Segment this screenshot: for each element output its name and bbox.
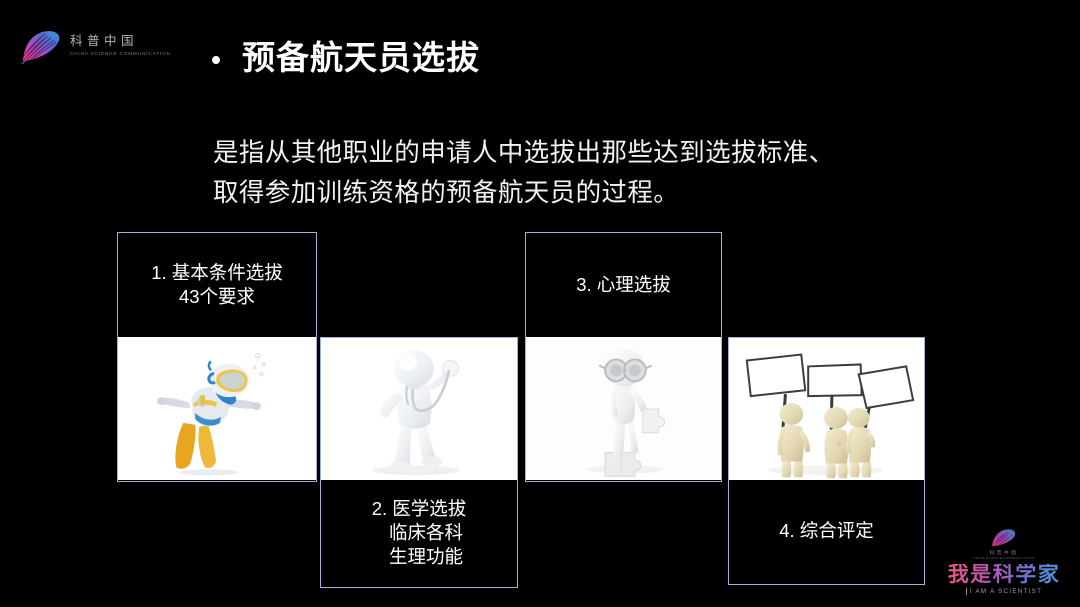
- card-3-caption: 3. 心理选拔: [526, 233, 721, 337]
- card-4-caption-line-1: 4. 综合评定: [779, 519, 874, 543]
- brand-logo: 科普中国 CHINA SCIENCE COMMUNICATION: [18, 24, 188, 70]
- doctor-stethoscope-figure-illustration: [321, 338, 517, 480]
- card-2-caption-line-1: 2. 医学选拔: [372, 497, 467, 521]
- glasses-puzzle-figure-illustration: [526, 337, 721, 480]
- watermark-small-english: CHINA SCIENCE COMMUNICATION: [973, 556, 1035, 560]
- selection-step-card-1[interactable]: 1. 基本条件选拔 43个要求: [117, 232, 317, 482]
- card-2-caption-line-3: 生理功能: [375, 545, 463, 569]
- three-figures-holding-blank-signs-illustration: [729, 338, 924, 480]
- card-2-caption-line-2: 临床各科: [375, 521, 463, 545]
- card-1-caption: 1. 基本条件选拔 43个要求: [118, 233, 316, 337]
- i-am-a-scientist-watermark: 科普中国 CHINA SCIENCE COMMUNICATION 我是科学家 I…: [950, 517, 1058, 595]
- card-4-caption: 4. 综合评定: [729, 480, 924, 583]
- slide-title-row: 预备航天员选拔: [212, 40, 480, 76]
- watermark-english-title: I AM A SCIENTIST: [970, 588, 1042, 595]
- brand-chinese-name: 科普中国: [70, 35, 171, 49]
- selection-step-card-3[interactable]: 3. 心理选拔: [525, 232, 722, 482]
- selection-step-card-4[interactable]: 4. 综合评定: [728, 337, 925, 585]
- body-paragraph: 是指从其他职业的申请人中选拔出那些达到选拔标准、 取得参加训练资格的预备航天员的…: [213, 134, 933, 213]
- i-am-a-scientist-fan-logo-icon: [989, 527, 1019, 549]
- presentation-slide: 科普中国 CHINA SCIENCE COMMUNICATION 预备航天员选拔…: [0, 0, 1080, 607]
- selection-step-card-2[interactable]: 2. 医学选拔 临床各科 生理功能: [320, 337, 518, 588]
- brand-english-name: CHINA SCIENCE COMMUNICATION: [70, 51, 171, 57]
- body-line-2: 取得参加训练资格的预备航天员的过程。: [213, 174, 933, 214]
- page-title: 预备航天员选拔: [242, 40, 480, 76]
- watermark-chinese-title: 我是科学家: [948, 564, 1061, 586]
- bullet-icon: [212, 56, 220, 64]
- card-2-caption: 2. 医学选拔 临床各科 生理功能: [321, 480, 517, 586]
- card-1-caption-line-1: 1. 基本条件选拔: [151, 261, 283, 285]
- brand-wordmark: 科普中国 CHINA SCIENCE COMMUNICATION: [70, 35, 171, 58]
- card-3-caption-line-1: 3. 心理选拔: [576, 273, 671, 297]
- card-1-caption-line-2: 43个要求: [179, 285, 255, 309]
- diver-figure-illustration: [118, 337, 316, 480]
- kepu-china-fan-logo-icon: [18, 27, 64, 67]
- body-line-1: 是指从其他职业的申请人中选拔出那些达到选拔标准、: [213, 134, 933, 174]
- watermark-divider-bar: [966, 588, 967, 595]
- watermark-english-row: I AM A SCIENTIST: [966, 588, 1042, 595]
